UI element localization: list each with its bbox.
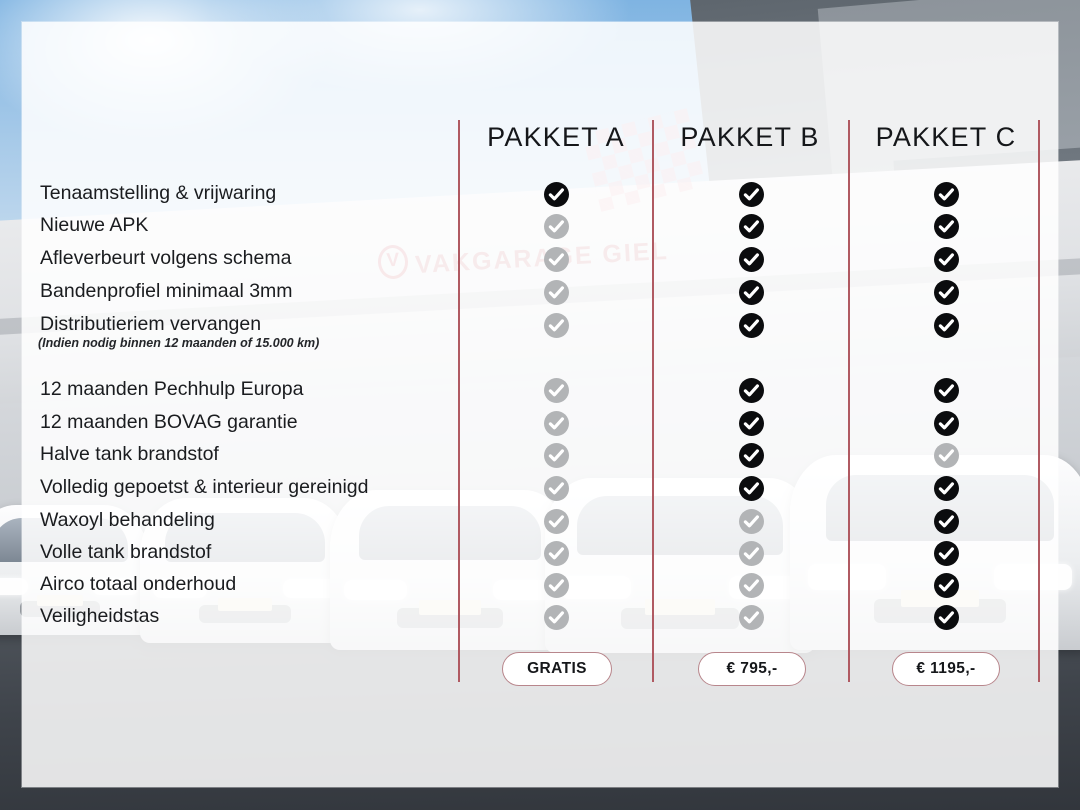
check-excluded-icon (544, 509, 569, 534)
feature-label: Veiligheidstas (40, 607, 159, 627)
feature-footnote: (Indien nodig binnen 12 maanden of 15.00… (38, 337, 319, 350)
feature-label: 12 maanden BOVAG garantie (40, 413, 298, 433)
feature-label: Bandenprofiel minimaal 3mm (40, 282, 293, 302)
check-included-icon (739, 443, 764, 468)
check-excluded-icon (739, 541, 764, 566)
check-included-icon (934, 476, 959, 501)
feature-label: Waxoyl behandeling (40, 511, 215, 531)
price-button-pakket-a[interactable]: GRATIS (502, 652, 612, 686)
feature-label: Afleverbeurt volgens schema (40, 249, 291, 269)
check-excluded-icon (544, 411, 569, 436)
check-included-icon (934, 214, 959, 239)
check-excluded-icon (544, 280, 569, 305)
check-included-icon (739, 182, 764, 207)
feature-label: Halve tank brandstof (40, 445, 219, 465)
check-included-icon (934, 411, 959, 436)
check-included-icon (739, 247, 764, 272)
check-included-icon (739, 378, 764, 403)
column-header-pakket-b: PAKKET B (653, 122, 847, 153)
check-excluded-icon (739, 509, 764, 534)
check-included-icon (544, 182, 569, 207)
check-excluded-icon (544, 247, 569, 272)
check-included-icon (934, 280, 959, 305)
check-included-icon (934, 378, 959, 403)
check-excluded-icon (544, 541, 569, 566)
price-button-pakket-b[interactable]: € 795,- (698, 652, 806, 686)
feature-label: Tenaamstelling & vrijwaring (40, 184, 276, 204)
check-excluded-icon (544, 378, 569, 403)
check-included-icon (934, 509, 959, 534)
check-included-icon (739, 476, 764, 501)
check-excluded-icon (739, 605, 764, 630)
check-included-icon (739, 214, 764, 239)
check-included-icon (934, 247, 959, 272)
check-excluded-icon (544, 443, 569, 468)
feature-label: Distributieriem vervangen (40, 315, 261, 335)
column-header-pakket-a: PAKKET A (459, 122, 653, 153)
check-excluded-icon (739, 573, 764, 598)
check-excluded-icon (544, 573, 569, 598)
feature-label: 12 maanden Pechhulp Europa (40, 380, 303, 400)
column-header-pakket-c: PAKKET C (849, 122, 1043, 153)
check-included-icon (739, 411, 764, 436)
feature-label: Airco totaal onderhoud (40, 575, 236, 595)
check-excluded-icon (934, 443, 959, 468)
price-button-pakket-c[interactable]: € 1195,- (892, 652, 1000, 686)
column-divider-b-c (848, 120, 850, 682)
check-included-icon (934, 182, 959, 207)
check-included-icon (739, 313, 764, 338)
column-divider-left (458, 120, 460, 682)
feature-label: Volle tank brandstof (40, 543, 211, 563)
check-excluded-icon (544, 313, 569, 338)
check-included-icon (934, 313, 959, 338)
check-excluded-icon (544, 214, 569, 239)
column-divider-right (1038, 120, 1040, 682)
check-included-icon (934, 541, 959, 566)
check-included-icon (934, 605, 959, 630)
column-divider-a-b (652, 120, 654, 682)
check-excluded-icon (544, 605, 569, 630)
check-included-icon (739, 280, 764, 305)
feature-label: Volledig gepoetst & interieur gereinigd (40, 478, 368, 498)
check-included-icon (934, 573, 959, 598)
feature-label: Nieuwe APK (40, 216, 148, 236)
check-excluded-icon (544, 476, 569, 501)
